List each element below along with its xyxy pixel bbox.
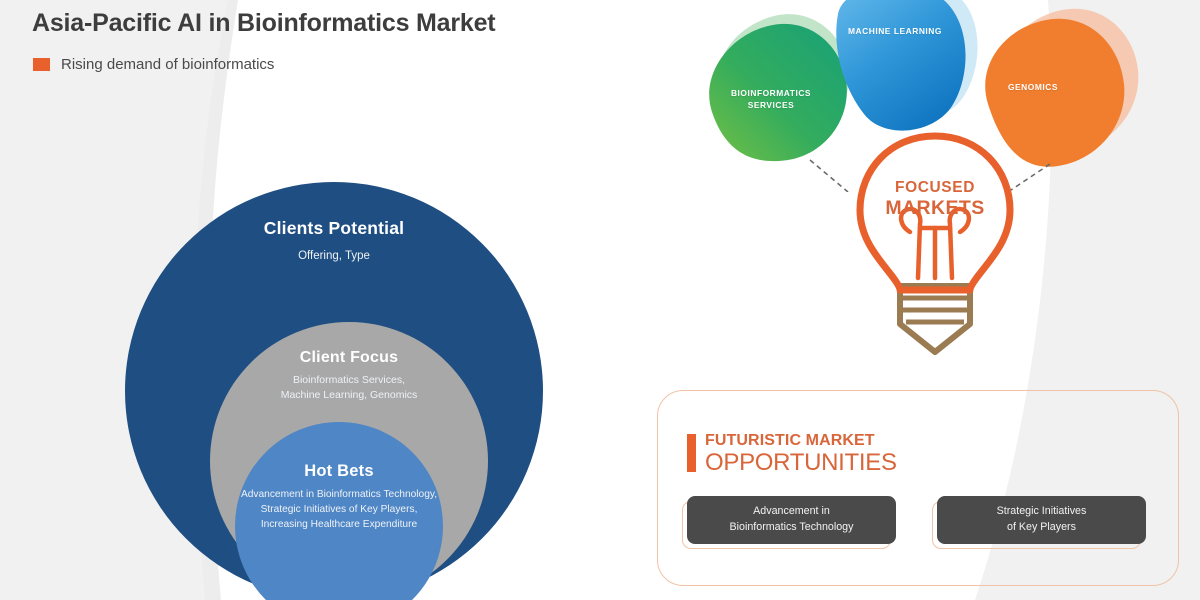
bulb-filament-right bbox=[950, 209, 969, 278]
legend-swatch-icon bbox=[32, 57, 51, 72]
opportunity-cards-row: Advancement in Bioinformatics Technology… bbox=[687, 496, 1146, 544]
opportunity-card-advancement[interactable]: Advancement in Bioinformatics Technology bbox=[687, 496, 896, 544]
legend-label: Rising demand of bioinformatics bbox=[61, 56, 274, 73]
ring-title-client-focus: Client Focus bbox=[210, 349, 488, 367]
bulb-label: FOCUSED MARKETS bbox=[840, 180, 1030, 219]
opportunity-card-strategic-initiatives[interactable]: Strategic Initiatives of Key Players bbox=[937, 496, 1146, 544]
panel-heading-line1: FUTURISTIC MARKET bbox=[705, 433, 897, 449]
ring-title-clients-potential: Clients Potential bbox=[125, 218, 543, 239]
concentric-rings-diagram: Clients Potential Offering, Type Client … bbox=[125, 182, 545, 600]
ring-subtitle-clients-potential: Offering, Type bbox=[125, 250, 543, 262]
bulb-filament-left bbox=[901, 209, 920, 278]
blob-label-bioinformatics-services: BIOINFORMATICS SERVICES bbox=[706, 88, 836, 112]
header-block: Asia-Pacific AI in Bioinformatics Market… bbox=[32, 8, 592, 73]
page-title: Asia-Pacific AI in Bioinformatics Market bbox=[32, 8, 592, 39]
opportunity-card[interactable]: Strategic Initiatives of Key Players bbox=[937, 496, 1146, 544]
blob-label-machine-learning: MACHINE LEARNING bbox=[820, 26, 970, 38]
blob-label-genomics: GENOMICS bbox=[968, 82, 1098, 94]
opportunity-card[interactable]: Advancement in Bioinformatics Technology bbox=[687, 496, 896, 544]
blob-machine-learning bbox=[836, 0, 965, 131]
panel-heading-line2: OPPORTUNITIES bbox=[705, 451, 897, 475]
lightbulb-focused-markets[interactable]: FOCUSED MARKETS bbox=[840, 128, 1030, 373]
bulb-label-line1: FOCUSED bbox=[840, 180, 1030, 196]
bulb-label-line2: MARKETS bbox=[840, 198, 1030, 218]
legend: Rising demand of bioinformatics bbox=[32, 56, 592, 73]
ring-subtitle-client-focus: Bioinformatics Services, Machine Learnin… bbox=[210, 373, 488, 403]
futuristic-opportunities-panel: FUTURISTIC MARKET OPPORTUNITIES Advancem… bbox=[657, 390, 1179, 586]
ring-title-hot-bets: Hot Bets bbox=[235, 462, 443, 481]
accent-bar-icon bbox=[687, 434, 696, 472]
ring-subtitle-hot-bets: Advancement in Bioinformatics Technology… bbox=[235, 488, 443, 532]
panel-heading: FUTURISTIC MARKET OPPORTUNITIES bbox=[687, 433, 897, 475]
